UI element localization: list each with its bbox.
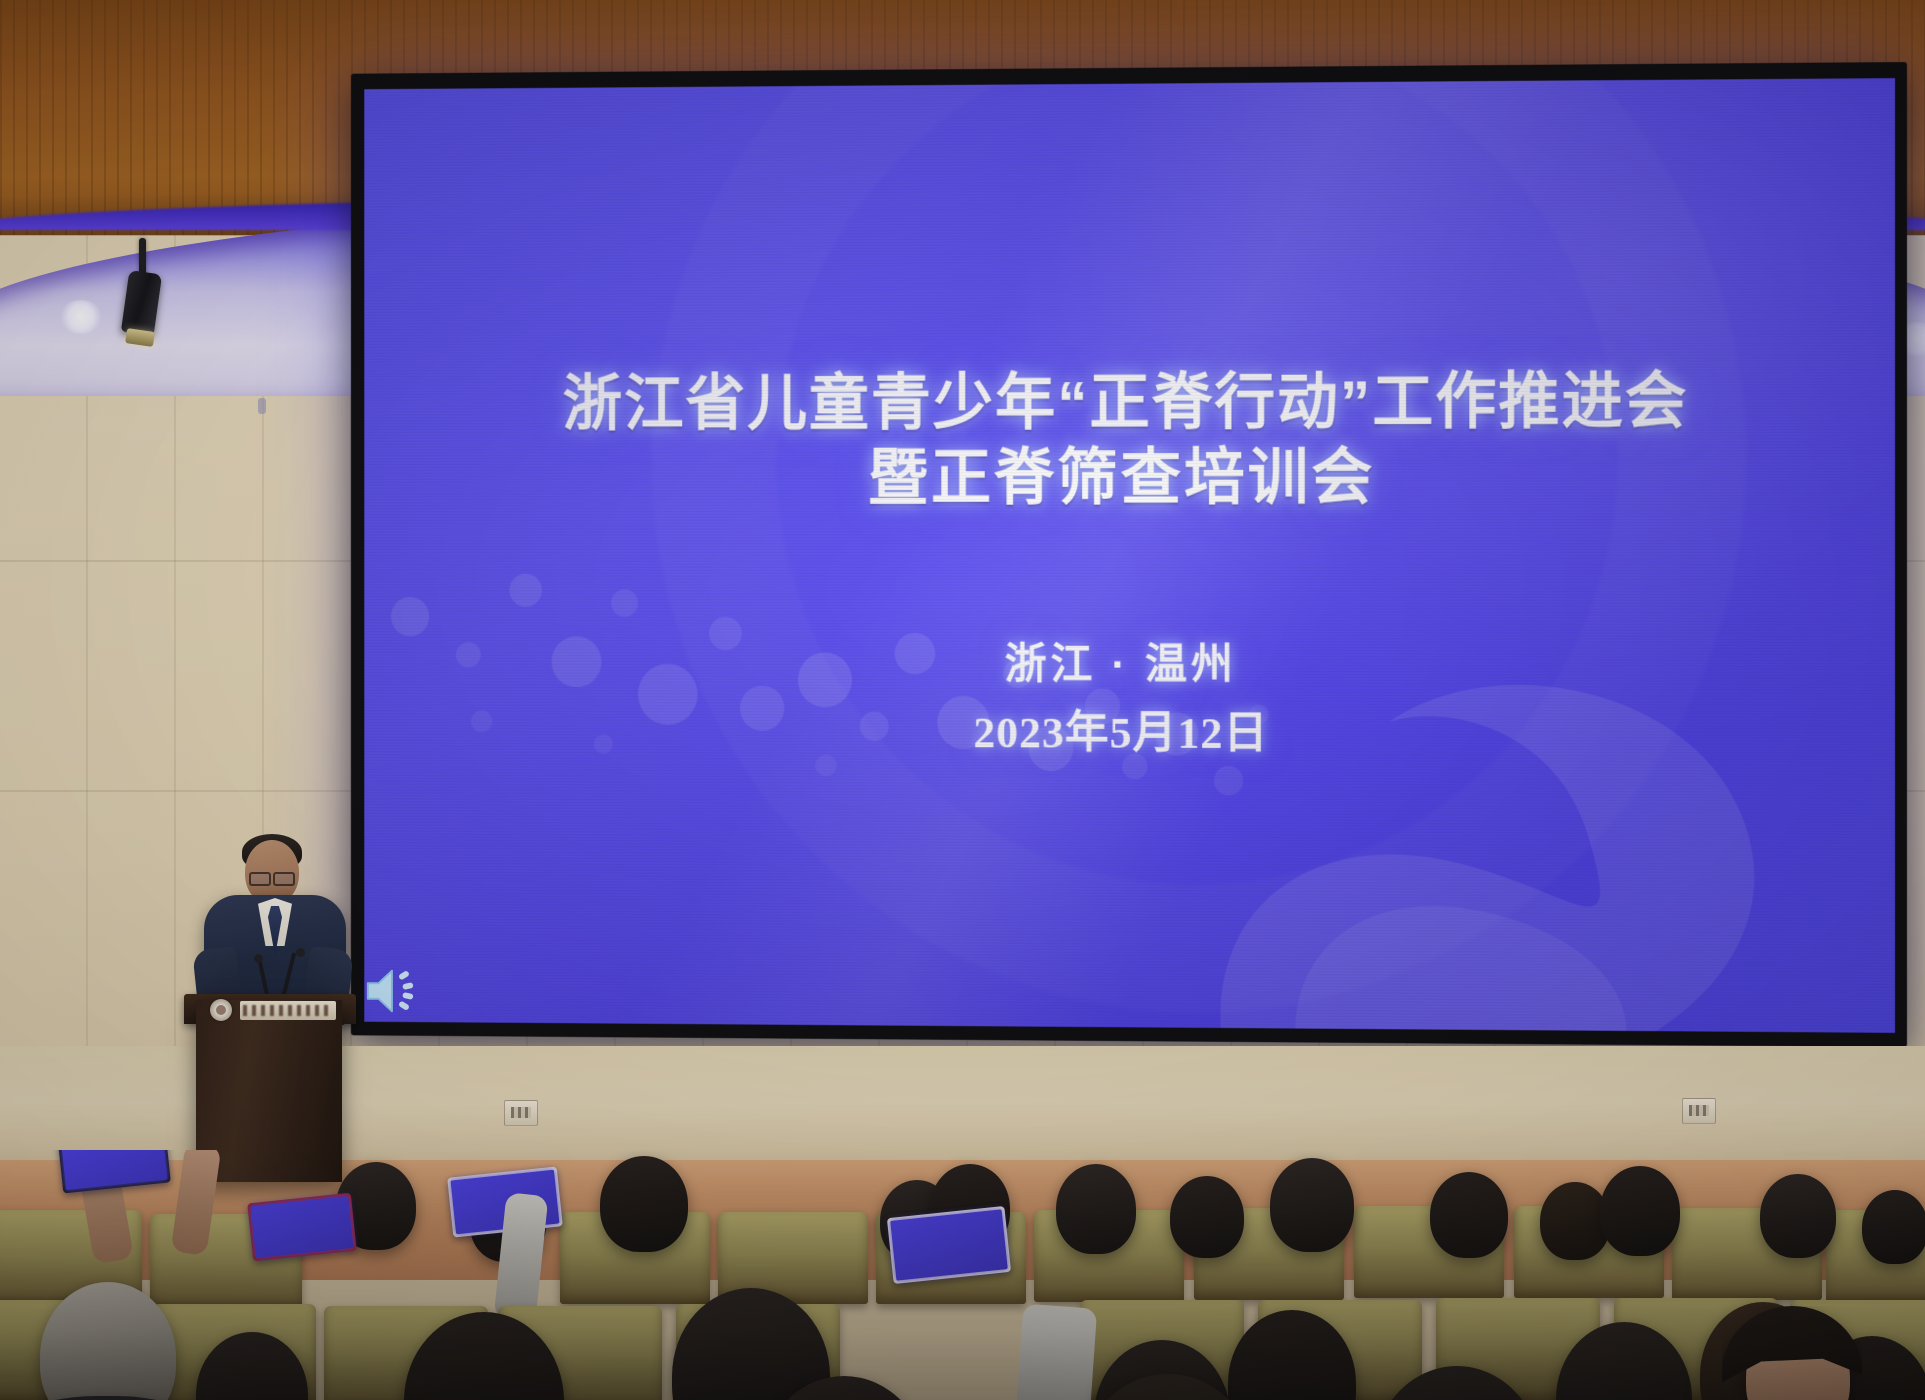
slide-date: 2023年5月12日 — [364, 695, 1895, 763]
speaker-glasses — [249, 872, 295, 882]
podium-nameplate — [240, 1001, 336, 1020]
audience-head — [1760, 1174, 1836, 1258]
audience-phone — [887, 1206, 1011, 1284]
ceiling-sensor — [258, 398, 266, 414]
raised-arm-sleeve — [1009, 1304, 1097, 1400]
wall-outlet — [1682, 1098, 1716, 1124]
screen-surface: 浙江省儿童青少年“正脊行动”工作推进会 暨正脊筛查培训会 浙江 · 温州 202… — [364, 78, 1895, 1033]
led-display-screen[interactable]: 浙江省儿童青少年“正脊行动”工作推进会 暨正脊筛查培训会 浙江 · 温州 202… — [351, 62, 1907, 1047]
audience-phone — [57, 1150, 171, 1193]
slide-title: 浙江省儿童青少年“正脊行动”工作推进会 暨正脊筛查培训会 — [364, 364, 1895, 516]
audience-head — [1056, 1164, 1136, 1254]
audience-phone — [247, 1193, 356, 1262]
microphone-head — [296, 948, 305, 957]
microphone-head — [254, 954, 263, 963]
slide-text-block: 浙江省儿童青少年“正脊行动”工作推进会 暨正脊筛查培训会 浙江 · 温州 202… — [364, 78, 1895, 1033]
audience-head — [1600, 1166, 1680, 1256]
wall-outlet — [504, 1100, 538, 1126]
audience-head — [1862, 1190, 1925, 1264]
podium-emblem-icon — [210, 999, 232, 1021]
volume-speaker-icon[interactable] — [362, 963, 420, 1019]
audience-head — [600, 1156, 688, 1252]
audience-head — [1170, 1176, 1244, 1258]
audience-seating-area — [0, 1150, 1925, 1400]
slide-title-line-2: 暨正脊筛查培训会 — [364, 440, 1895, 517]
audience-head — [1270, 1158, 1354, 1252]
slide-title-line-1: 浙江省儿童青少年“正脊行动”工作推进会 — [364, 364, 1895, 442]
audience-head — [1430, 1172, 1508, 1258]
slide-location: 浙江 · 温州 — [364, 636, 1895, 696]
downlight — [60, 300, 102, 334]
stage-spotlight — [122, 238, 162, 356]
auditorium-photo: 浙江省儿童青少年“正脊行动”工作推进会 暨正脊筛查培训会 浙江 · 温州 202… — [0, 0, 1925, 1400]
